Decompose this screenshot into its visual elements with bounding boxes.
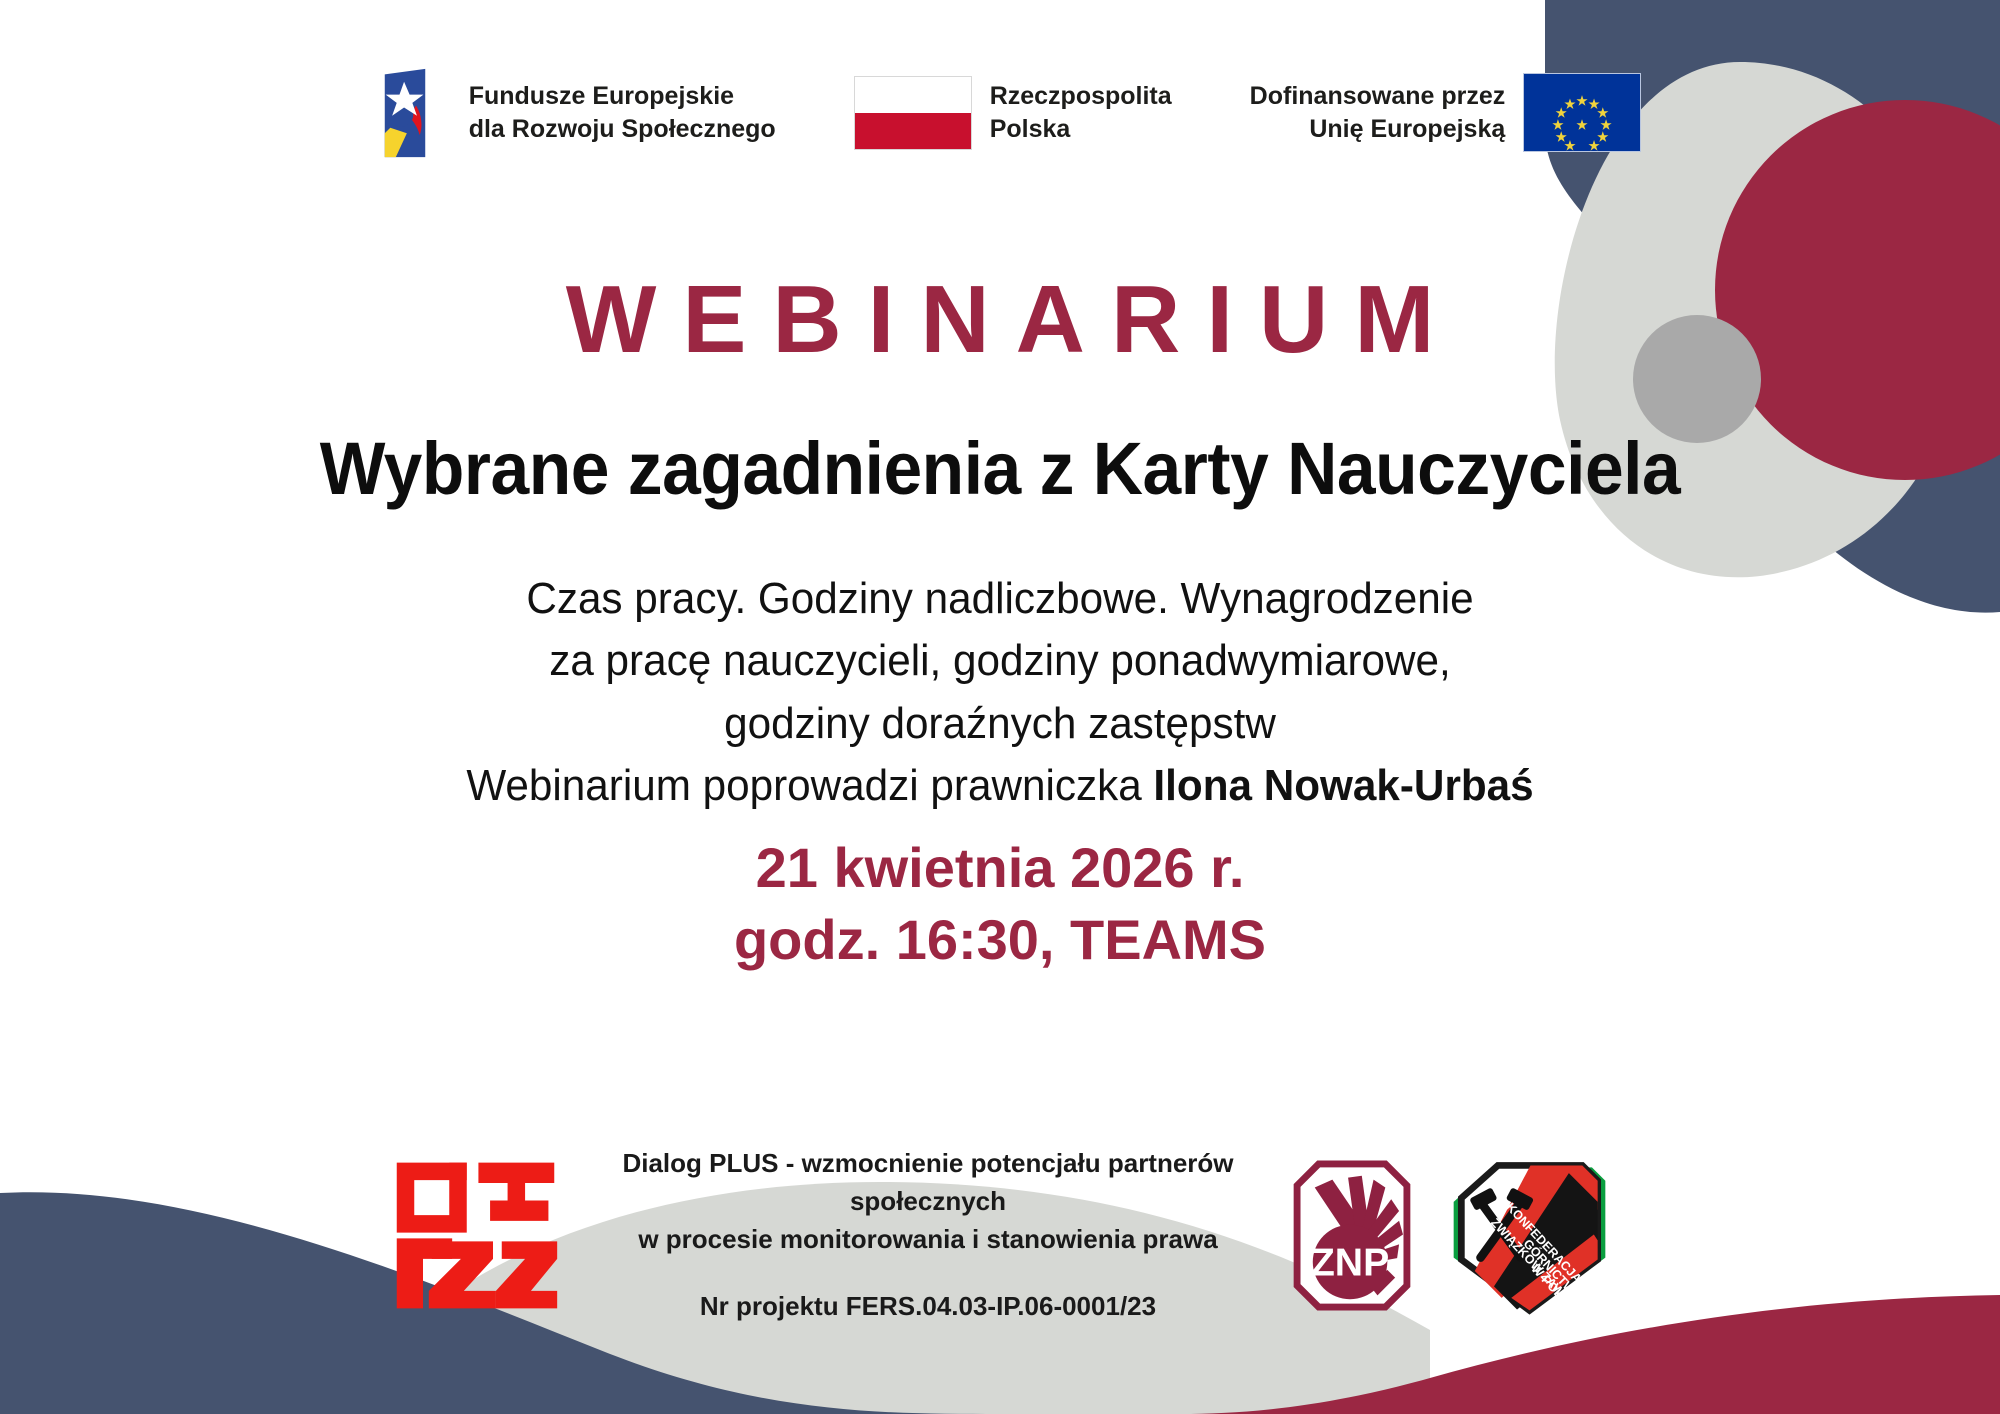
opzz-logo [388,1148,563,1323]
znp-logo: ZNP [1293,1160,1411,1312]
partners-footer: Dialog PLUS - wzmocnienie potencjału par… [0,1145,2000,1326]
znp-logo-label: ZNP [1311,1240,1389,1284]
project-title-line-1: Dialog PLUS - wzmocnienie potencjału par… [593,1145,1263,1220]
presenter-name: Ilona Nowak-Urbaś [1153,761,1533,810]
presenter-line: Webinarium poprowadzi prawniczka Ilona N… [40,755,1960,817]
description-line-2: za pracę nauczycieli, godziny ponadwymia… [40,630,1960,692]
project-title-line-2: w procesie monitorowania i stanowienia p… [593,1221,1263,1259]
description-line-3: godziny doraźnych zastępstw [40,693,1960,755]
page-title: WEBINARIUM [0,0,2000,368]
event-time-platform: godz. 16:30, TEAMS [0,904,2000,977]
project-number: Nr projektu FERS.04.03-IP.06-0001/23 [593,1288,1263,1326]
event-date: 21 kwietnia 2026 r. [0,832,2000,905]
project-info: Dialog PLUS - wzmocnienie potencjału par… [593,1145,1263,1326]
webinar-poster: Fundusze Europejskie dla Rozwoju Społecz… [0,0,2000,1414]
description-block: Czas pracy. Godziny nadliczbowe. Wynagro… [40,508,1960,818]
event-schedule: 21 kwietnia 2026 r. godz. 16:30, TEAMS [0,818,2000,978]
kzzg-logo: KONFEDERACJA ZWIĄZKÓW ZAWODOWYCH GÓRNICT… [1447,1152,1612,1320]
presenter-prefix: Webinarium poprowadzi prawniczka [466,761,1153,810]
description-line-1: Czas pracy. Godziny nadliczbowe. Wynagro… [40,568,1960,630]
subtitle: Wybrane zagadnienia z Karty Nauczyciela [60,368,1940,508]
poster-content: WEBINARIUM Wybrane zagadnienia z Karty N… [0,0,2000,977]
